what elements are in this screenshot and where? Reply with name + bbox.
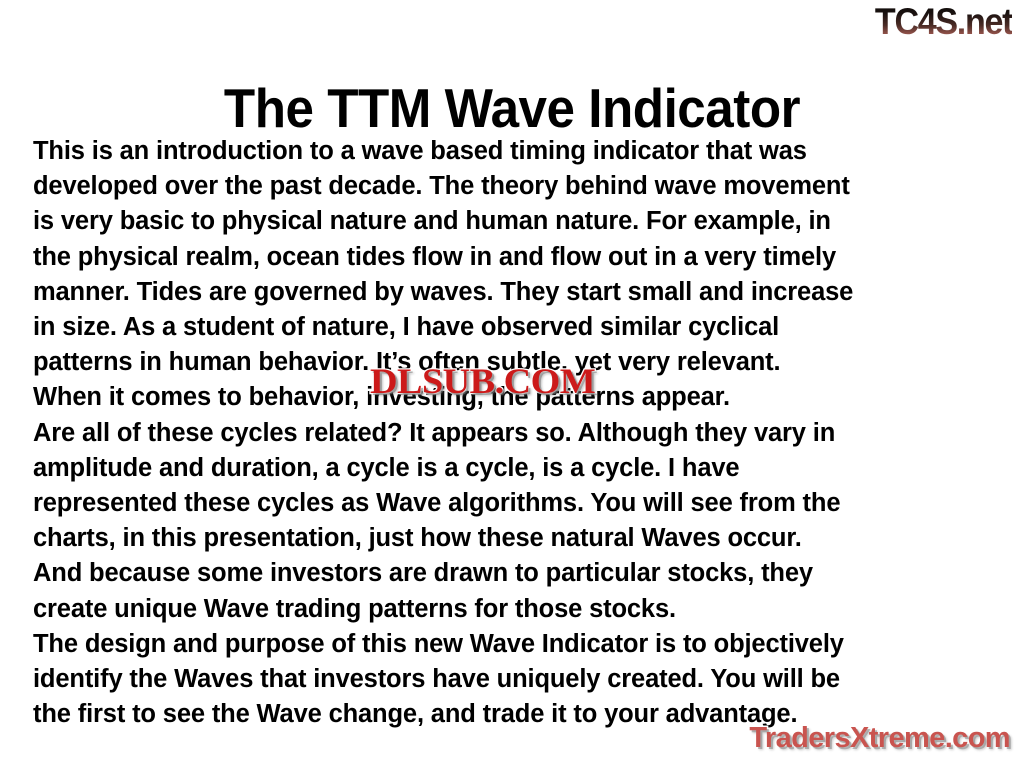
watermark-dlsub: DLSUB.COM xyxy=(370,363,595,399)
body-line: The design and purpose of this new Wave … xyxy=(33,627,995,662)
page-title: The TTM Wave Indicator xyxy=(36,77,988,139)
body-line: developed over the past decade. The theo… xyxy=(33,169,995,204)
body-line: the physical realm, ocean tides flow in … xyxy=(33,240,995,275)
body-line: represented these cycles as Wave algorit… xyxy=(33,486,995,521)
body-line: And because some investors are drawn to … xyxy=(33,556,995,591)
body-line: manner. Tides are governed by waves. The… xyxy=(33,275,995,310)
body-line: This is an introduction to a wave based … xyxy=(33,134,995,169)
watermark-tradersxtreme: TradersXtreme.com xyxy=(749,722,1010,754)
body-line: create unique Wave trading patterns for … xyxy=(33,592,995,627)
body-line: Are all of these cycles related? It appe… xyxy=(33,416,995,451)
body-line: charts, in this presentation, just how t… xyxy=(33,521,995,556)
body-line: in size. As a student of nature, I have … xyxy=(33,310,995,345)
body-line: is very basic to physical nature and hum… xyxy=(33,204,995,239)
body-line: identify the Waves that investors have u… xyxy=(33,662,995,697)
body-paragraph: This is an introduction to a wave based … xyxy=(33,134,995,732)
body-line: amplitude and duration, a cycle is a cyc… xyxy=(33,451,995,486)
brand-logo-tc4s: TC4S.net xyxy=(875,3,1012,40)
presentation-slide: TC4S.net The TTM Wave Indicator This is … xyxy=(0,0,1024,768)
